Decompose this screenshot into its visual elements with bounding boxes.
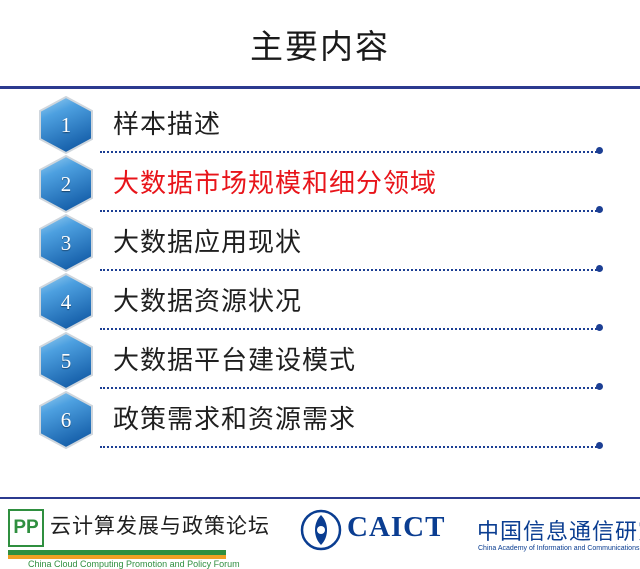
list-item-number: 2 [37, 155, 95, 213]
hexagon-badge: 5 [37, 332, 95, 390]
leader-line [100, 210, 600, 212]
forum-logo: PP 云计算发展与政策论坛 China Cloud Computing Prom… [8, 507, 298, 559]
list-item[interactable]: 2 大数据市场规模和细分领域 [0, 155, 640, 215]
hexagon-badge: 3 [37, 214, 95, 272]
list-item-label: 大数据应用现状 [113, 222, 302, 259]
hexagon-badge: 1 [37, 96, 95, 154]
slide-footer: PP 云计算发展与政策论坛 China Cloud Computing Prom… [0, 499, 640, 562]
page-title: 主要内容 [0, 20, 640, 68]
list-item-number: 1 [37, 96, 95, 154]
list-item[interactable]: 3 大数据应用现状 [0, 214, 640, 274]
forum-logo-cn: 云计算发展与政策论坛 [50, 510, 270, 540]
list-item[interactable]: 1 样本描述 [0, 96, 640, 156]
caict-emblem-icon [300, 509, 342, 551]
forum-logo-en: China Cloud Computing Promotion and Poli… [28, 559, 240, 569]
agenda-list: 1 样本描述 2 大数据市场规模和细分领域 3 [0, 96, 640, 496]
caict-acronym: CAICT [347, 511, 445, 544]
caict-logo: CAICT 中国信息通信研究院 China Academy of Informa… [292, 507, 632, 559]
leader-line [100, 269, 600, 271]
caict-name-en: China Academy of Information and Communi… [478, 545, 640, 552]
list-item-number: 6 [37, 391, 95, 449]
list-item-number: 5 [37, 332, 95, 390]
title-divider [0, 86, 640, 89]
hexagon-badge: 2 [37, 155, 95, 213]
list-item-label: 政策需求和资源需求 [113, 399, 356, 436]
leader-line [100, 387, 600, 389]
leader-line-endpoint [596, 383, 603, 390]
leader-line [100, 446, 600, 448]
list-item-number: 4 [37, 273, 95, 331]
list-item[interactable]: 6 政策需求和资源需求 [0, 391, 640, 451]
list-item-number: 3 [37, 214, 95, 272]
list-item-label: 样本描述 [113, 104, 221, 141]
leader-line-endpoint [596, 324, 603, 331]
list-item-label: 大数据资源状况 [113, 281, 302, 318]
pp-mark-label: PP [10, 511, 42, 545]
leader-line-endpoint [596, 265, 603, 272]
leader-line-endpoint [596, 442, 603, 449]
title-area: 主要内容 [0, 0, 640, 86]
leader-line [100, 328, 600, 330]
presentation-slide: 主要内容 1 样本描述 [0, 0, 640, 562]
list-item-label: 大数据市场规模和细分领域 [113, 163, 437, 200]
list-item[interactable]: 4 大数据资源状况 [0, 273, 640, 333]
leader-line-endpoint [596, 206, 603, 213]
leader-line-endpoint [596, 147, 603, 154]
pp-mark-icon: PP [8, 509, 44, 547]
list-item[interactable]: 5 大数据平台建设模式 [0, 332, 640, 392]
caict-name-cn: 中国信息通信研究院 [477, 514, 640, 546]
hexagon-badge: 6 [37, 391, 95, 449]
leader-line [100, 151, 600, 153]
list-item-label: 大数据平台建设模式 [113, 340, 356, 377]
hexagon-badge: 4 [37, 273, 95, 331]
